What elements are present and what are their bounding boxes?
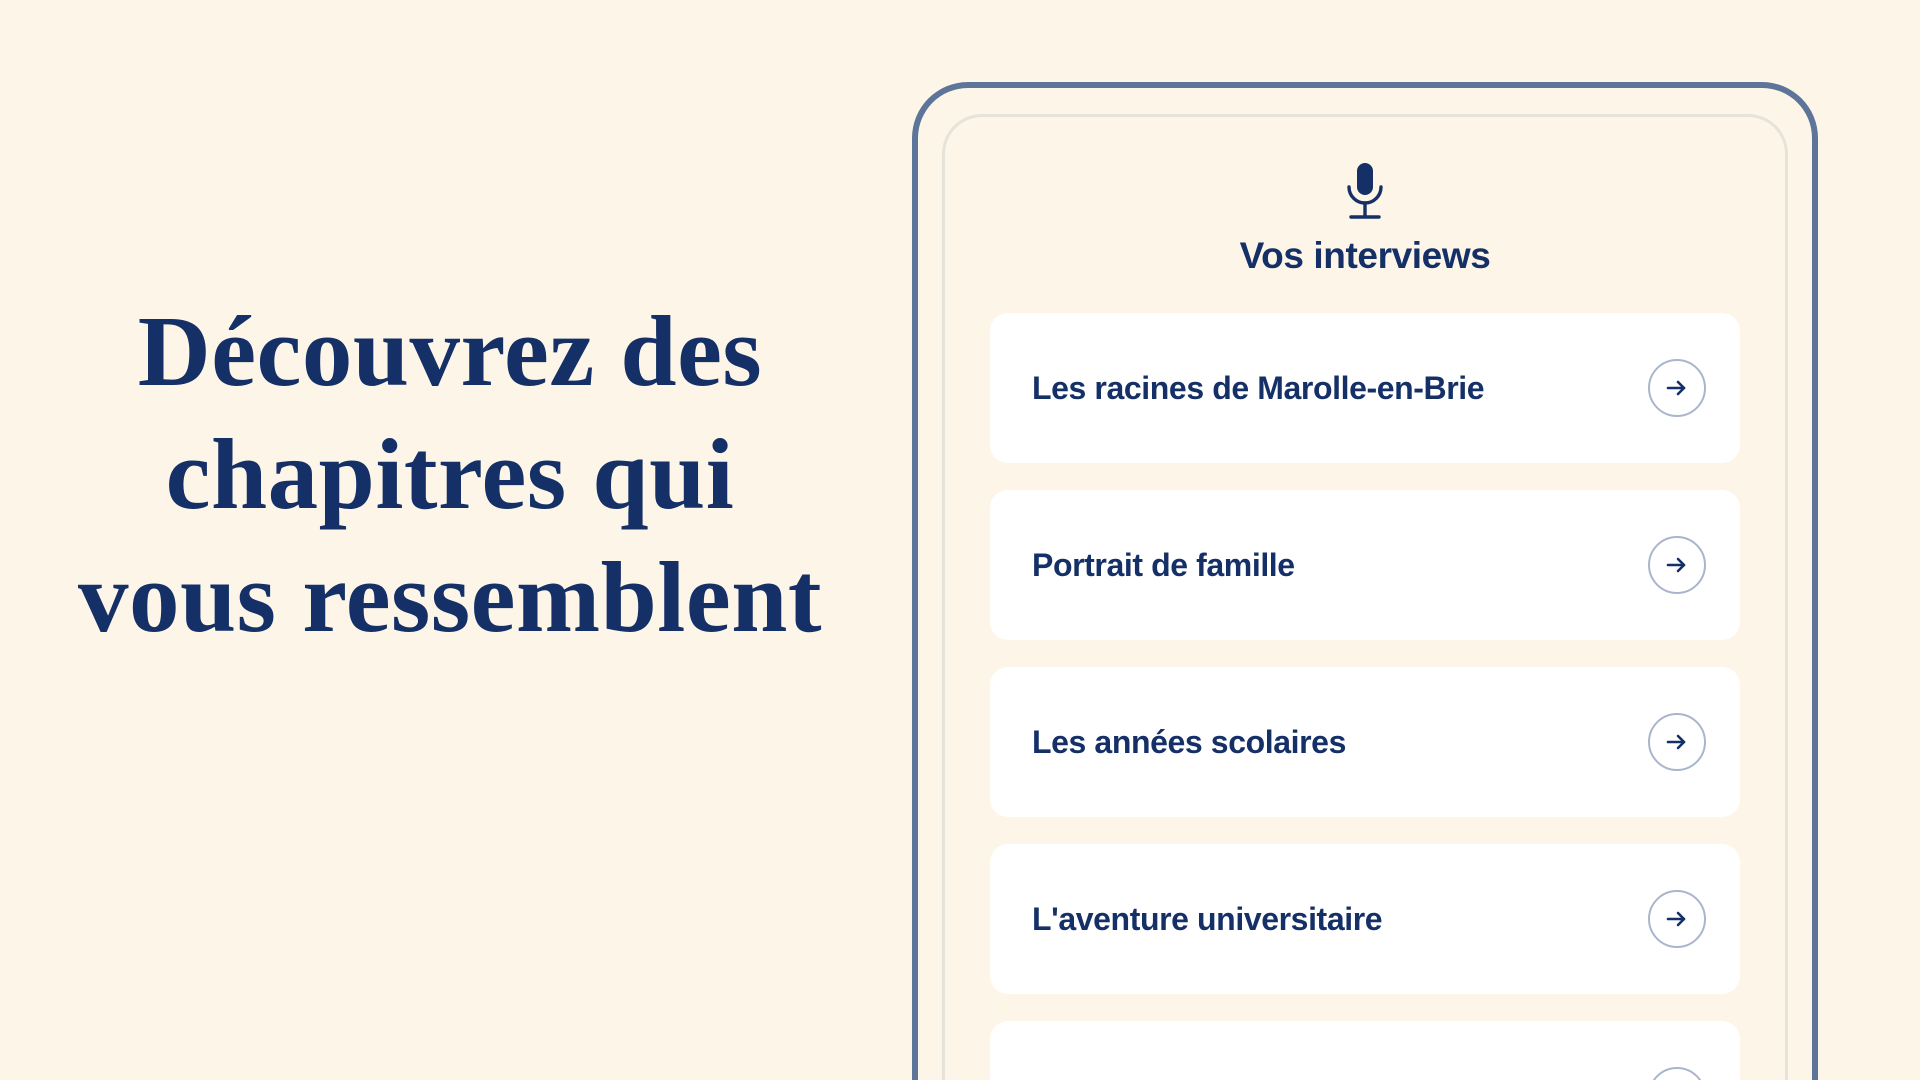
marketing-hero-slide: Découvrez des chapitres qui vous ressemb… bbox=[0, 0, 1920, 1080]
interview-card-list: Les racines de Marolle-en-Brie Portrait … bbox=[945, 313, 1785, 1080]
open-interview-button[interactable] bbox=[1648, 1067, 1706, 1080]
arrow-right-icon bbox=[1664, 375, 1690, 401]
arrow-right-icon bbox=[1664, 729, 1690, 755]
hero-text-block: Découvrez des chapitres qui vous ressemb… bbox=[70, 290, 830, 660]
interview-title: Les années scolaires bbox=[1032, 724, 1346, 761]
list-item[interactable] bbox=[990, 1021, 1740, 1080]
list-item[interactable]: Les années scolaires bbox=[990, 667, 1740, 817]
arrow-right-icon bbox=[1664, 552, 1690, 578]
screen-title: Vos interviews bbox=[945, 235, 1785, 277]
interview-title: Portrait de famille bbox=[1032, 547, 1295, 584]
page-title: Découvrez des chapitres qui vous ressemb… bbox=[70, 290, 830, 660]
interview-title: L'aventure universitaire bbox=[1032, 901, 1382, 938]
phone-screen: Vos interviews Les racines de Marolle-en… bbox=[942, 114, 1788, 1080]
screen-header: Vos interviews bbox=[945, 117, 1785, 277]
open-interview-button[interactable] bbox=[1648, 713, 1706, 771]
list-item[interactable]: L'aventure universitaire bbox=[990, 844, 1740, 994]
open-interview-button[interactable] bbox=[1648, 536, 1706, 594]
list-item[interactable]: Les racines de Marolle-en-Brie bbox=[990, 313, 1740, 463]
arrow-right-icon bbox=[1664, 906, 1690, 932]
open-interview-button[interactable] bbox=[1648, 890, 1706, 948]
interview-title: Les racines de Marolle-en-Brie bbox=[1032, 370, 1484, 407]
microphone-icon bbox=[1338, 161, 1392, 225]
open-interview-button[interactable] bbox=[1648, 359, 1706, 417]
phone-mockup-frame: Vos interviews Les racines de Marolle-en… bbox=[912, 82, 1818, 1080]
list-item[interactable]: Portrait de famille bbox=[990, 490, 1740, 640]
